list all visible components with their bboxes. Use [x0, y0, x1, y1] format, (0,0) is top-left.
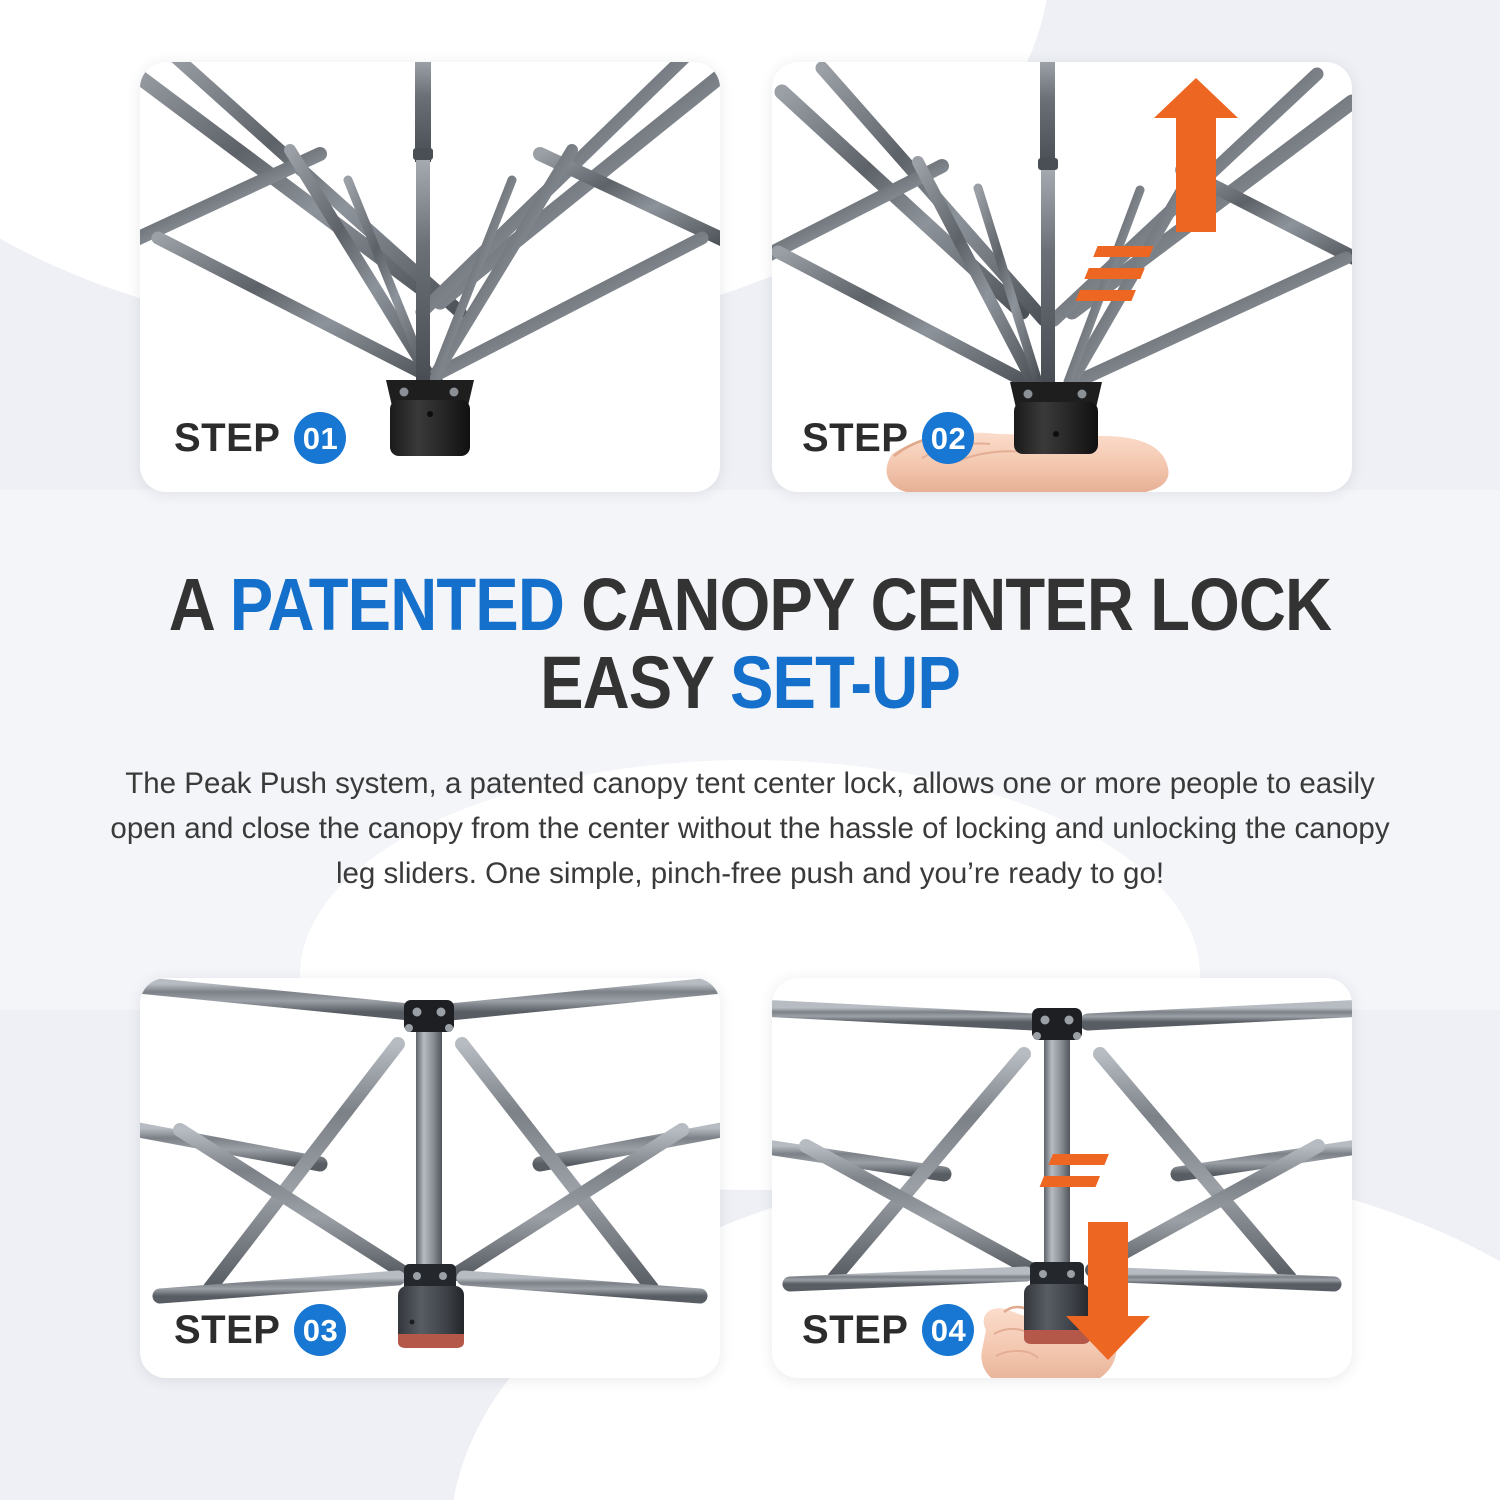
step-panel-04: STEP 04 [772, 978, 1352, 1378]
step-label: STEP [174, 418, 280, 458]
step-number-badge: 01 [294, 412, 346, 464]
step-label: STEP [802, 418, 908, 458]
center-lock-hub [1024, 1262, 1090, 1344]
headline-line-2: EASY SET-UP [90, 644, 1410, 722]
step-label: STEP [174, 1310, 280, 1350]
headline-text-b: CANOPY CENTER LOCK [564, 563, 1331, 646]
headline-highlight-setup: SET-UP [730, 641, 960, 724]
step-panel-01: STEP 01 [140, 62, 720, 492]
arrow-up-icon [1075, 78, 1238, 301]
step-number-badge: 02 [922, 412, 974, 464]
step-number-badge: 03 [294, 1304, 346, 1356]
headline-line-1: A PATENTED CANOPY CENTER LOCK [90, 566, 1410, 644]
step-badge-02: STEP 02 [802, 412, 974, 464]
headline-text-c: EASY [540, 641, 730, 724]
infographic-canvas: STEP 01 [0, 0, 1500, 1500]
headline-text-a: A [169, 563, 230, 646]
body-paragraph: The Peak Push system, a patented canopy … [92, 762, 1408, 896]
headline-highlight-patented: PATENTED [230, 563, 564, 646]
step-badge-03: STEP 03 [174, 1304, 346, 1356]
headline: A PATENTED CANOPY CENTER LOCK EASY SET-U… [0, 566, 1500, 723]
step-label: STEP [802, 1310, 908, 1350]
step-panel-02: STEP 02 [772, 62, 1352, 492]
top-joint [404, 1000, 454, 1032]
center-lock-hub [398, 1264, 464, 1348]
step-panel-03: STEP 03 [140, 978, 720, 1378]
step-badge-04: STEP 04 [802, 1304, 974, 1356]
step-number-badge: 04 [922, 1304, 974, 1356]
step-badge-01: STEP 01 [174, 412, 346, 464]
top-joint [1032, 1008, 1082, 1040]
center-lock-hub [386, 380, 474, 456]
center-lock-hub [1010, 382, 1102, 454]
body-copy: The Peak Push system, a patented canopy … [92, 762, 1408, 896]
